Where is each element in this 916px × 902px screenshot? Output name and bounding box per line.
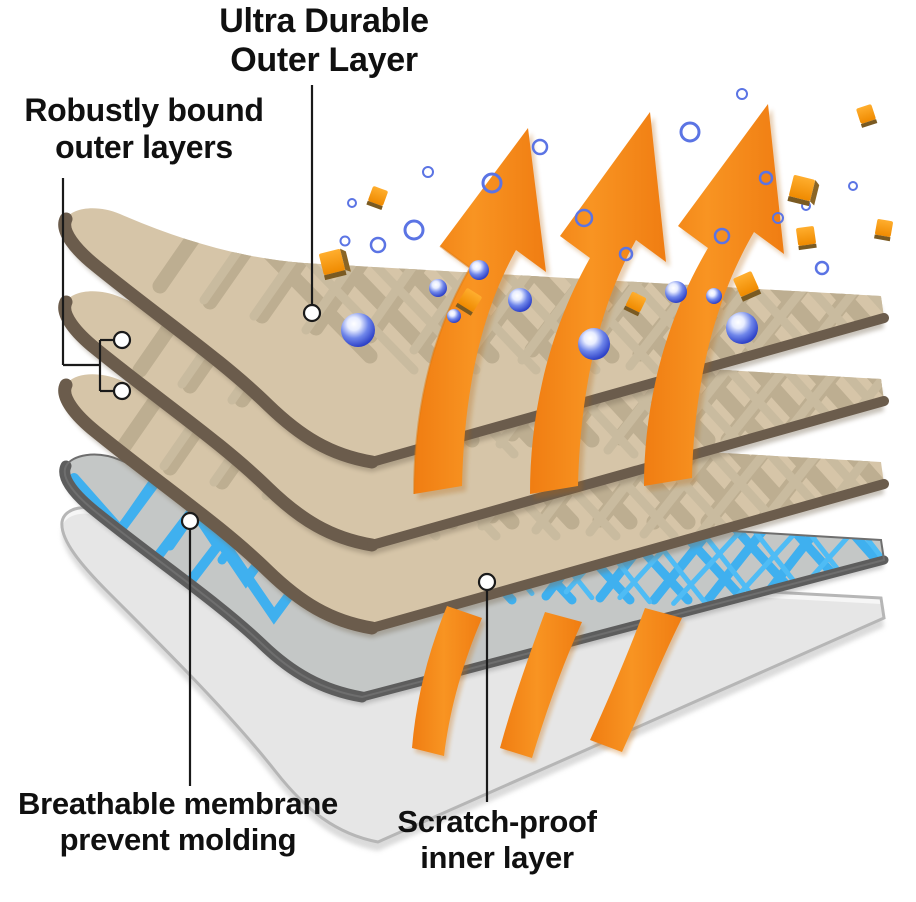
droplet [405,221,423,239]
droplet [371,238,385,252]
droplet [665,281,687,303]
leader-endpoint-circle [304,305,320,321]
callout-label-ultra-durable-outer-layer: Ultra Durable Outer Layer [196,2,452,81]
leader-endpoint-circle [479,574,495,590]
droplet [447,309,461,323]
droplet [341,313,375,347]
droplet [429,279,447,297]
callout-label-breathable-membrane: Breathable membrane prevent molding [2,786,354,858]
cube [874,219,893,241]
droplet [849,182,857,190]
cube [366,186,388,210]
droplet [423,167,433,177]
leader-endpoint-circle [114,332,130,348]
cube [796,226,817,250]
leader-endpoint-circle [114,383,130,399]
droplet [508,288,532,312]
droplet [737,89,747,99]
leader-endpoint-circle [182,513,198,529]
cube [856,104,877,128]
layered-fabric-diagram: Ultra Durable Outer Layer Robustly bound… [0,0,916,902]
cube [787,175,820,208]
droplet [706,288,722,304]
callout-label-scratch-proof-inner-layer: Scratch-proof inner layer [362,804,632,876]
droplet [469,260,489,280]
callout-label-robustly-bound-outer-layers: Robustly bound outer layers [4,92,284,166]
droplet [816,262,828,274]
droplet [578,328,610,360]
droplet [681,123,699,141]
droplet [341,237,350,246]
droplet [533,140,547,154]
droplet [348,199,356,207]
droplet [726,312,758,344]
